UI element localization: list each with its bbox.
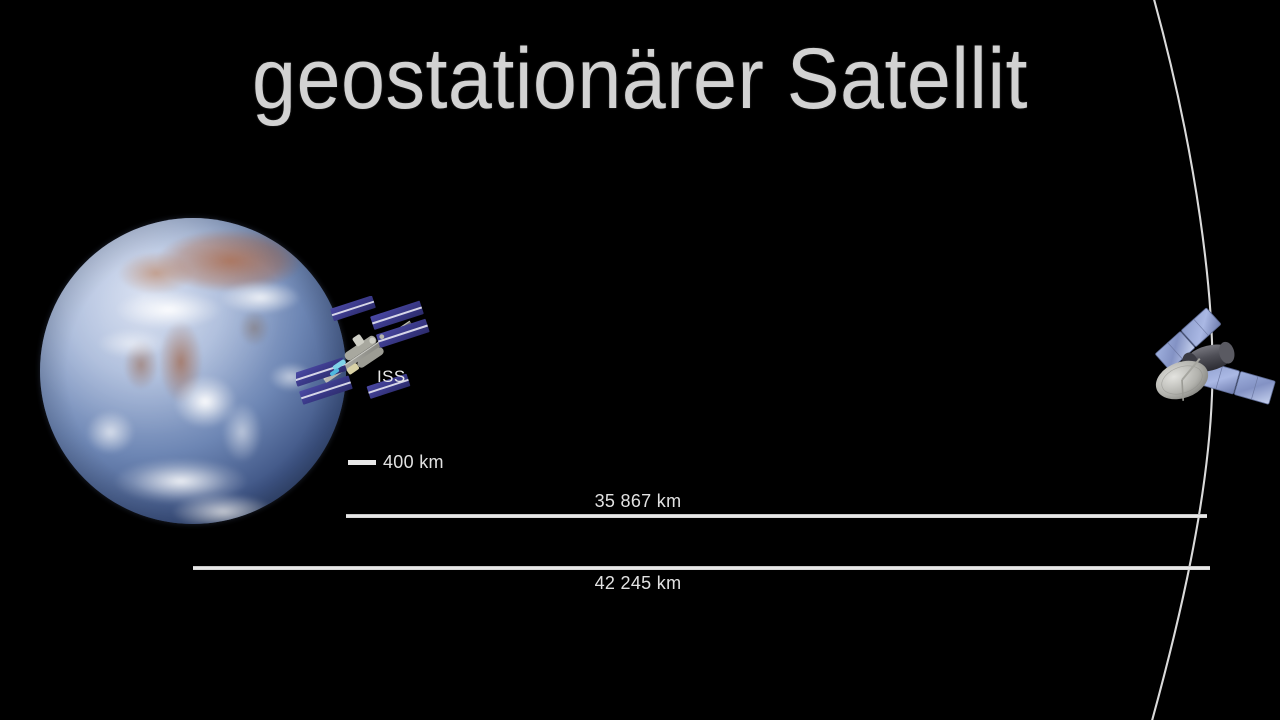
measurement-line-altitude — [346, 514, 1207, 518]
space-diagram-canvas: geostationärer Satellit — [0, 0, 1280, 720]
scale-bar-label: 400 km — [383, 452, 444, 473]
measurement-label-orbital-radius: 42 245 km — [0, 573, 1278, 594]
geostationary-satellite-icon — [1138, 300, 1280, 418]
iss-label: ISS — [377, 367, 406, 387]
page-title: geostationärer Satellit — [51, 34, 1229, 124]
measurement-label-altitude: 35 867 km — [0, 491, 1278, 512]
iss-satellite-icon — [296, 296, 440, 408]
scale-bar-400km — [348, 460, 376, 465]
measurement-line-orbital-radius — [193, 566, 1210, 570]
